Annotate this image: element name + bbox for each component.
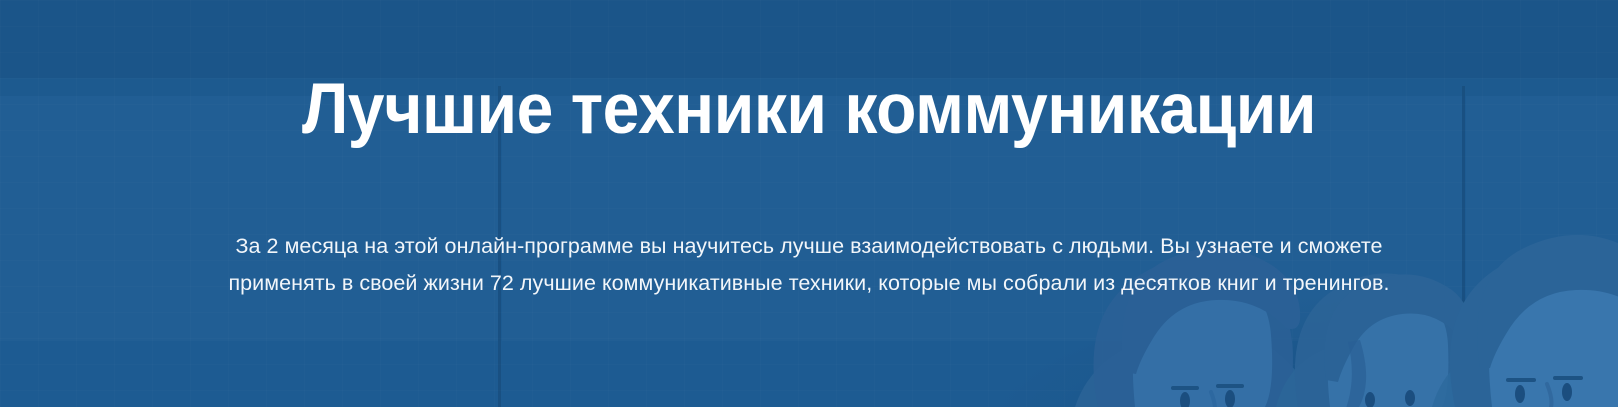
page-title: Лучшие техники коммуникации — [57, 74, 1562, 146]
hero-content: Лучшие техники коммуникации За 2 месяца … — [0, 0, 1618, 407]
hero-subtitle: За 2 месяца на этой онлайн-программе вы … — [202, 228, 1417, 302]
hero-banner: Лучшие техники коммуникации За 2 месяца … — [0, 0, 1618, 407]
